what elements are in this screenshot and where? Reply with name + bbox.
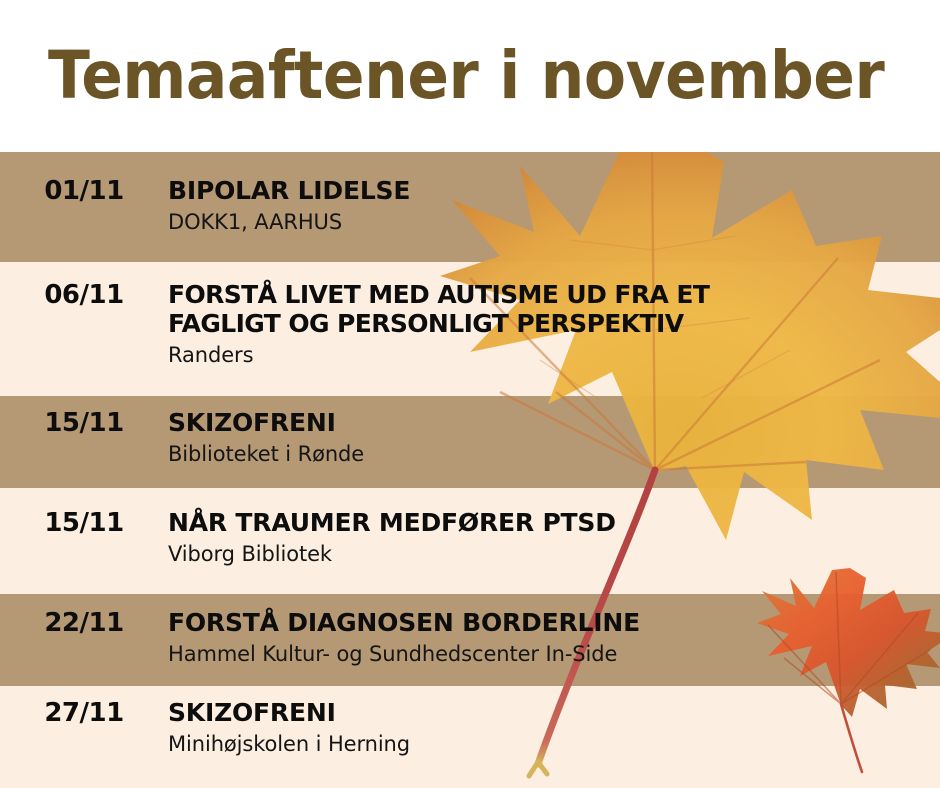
event-date: 06/11 <box>0 280 168 310</box>
page-title: Temaaftener i november <box>48 43 884 109</box>
schedule-row-1: 01/11 BIPOLAR LIDELSE DOKK1, AARHUS <box>0 176 940 235</box>
event-venue: Minihøjskolen i Herning <box>168 732 930 757</box>
event-info: FORSTÅ LIVET MED AUTISME UD FRA ET FAGLI… <box>168 280 940 368</box>
event-title: NÅR TRAUMER MEDFØRER PTSD <box>168 508 930 537</box>
event-info: SKIZOFRENI Minihøjskolen i Herning <box>168 698 940 757</box>
event-date: 15/11 <box>0 408 168 438</box>
event-date: 27/11 <box>0 698 168 728</box>
event-info: FORSTÅ DIAGNOSEN BORDERLINE Hammel Kultu… <box>168 608 940 667</box>
poster-canvas: Temaaftener i november 01/11 BIPOLAR LID… <box>0 0 940 788</box>
event-date: 15/11 <box>0 508 168 538</box>
event-venue: Viborg Bibliotek <box>168 542 930 567</box>
event-venue: Biblioteket i Rønde <box>168 442 930 467</box>
schedule-row-5: 22/11 FORSTÅ DIAGNOSEN BORDERLINE Hammel… <box>0 608 940 667</box>
event-venue: Randers <box>168 343 930 368</box>
event-title: FORSTÅ DIAGNOSEN BORDERLINE <box>168 608 930 637</box>
event-date: 01/11 <box>0 176 168 206</box>
schedule-row-6: 27/11 SKIZOFRENI Minihøjskolen i Herning <box>0 698 940 757</box>
schedule-row-2: 06/11 FORSTÅ LIVET MED AUTISME UD FRA ET… <box>0 280 940 368</box>
event-info: NÅR TRAUMER MEDFØRER PTSD Viborg Bibliot… <box>168 508 940 567</box>
poster-header: Temaaftener i november <box>0 0 940 152</box>
event-title: SKIZOFRENI <box>168 698 930 727</box>
event-info: SKIZOFRENI Biblioteket i Rønde <box>168 408 940 467</box>
event-date: 22/11 <box>0 608 168 638</box>
event-venue: Hammel Kultur- og Sundhedscenter In-Side <box>168 642 930 667</box>
event-venue: DOKK1, AARHUS <box>168 210 930 235</box>
event-title: SKIZOFRENI <box>168 408 930 437</box>
schedule-row-4: 15/11 NÅR TRAUMER MEDFØRER PTSD Viborg B… <box>0 508 940 567</box>
event-info: BIPOLAR LIDELSE DOKK1, AARHUS <box>168 176 940 235</box>
event-title: FORSTÅ LIVET MED AUTISME UD FRA ET FAGLI… <box>168 280 930 338</box>
schedule-row-3: 15/11 SKIZOFRENI Biblioteket i Rønde <box>0 408 940 467</box>
event-title: BIPOLAR LIDELSE <box>168 176 930 205</box>
